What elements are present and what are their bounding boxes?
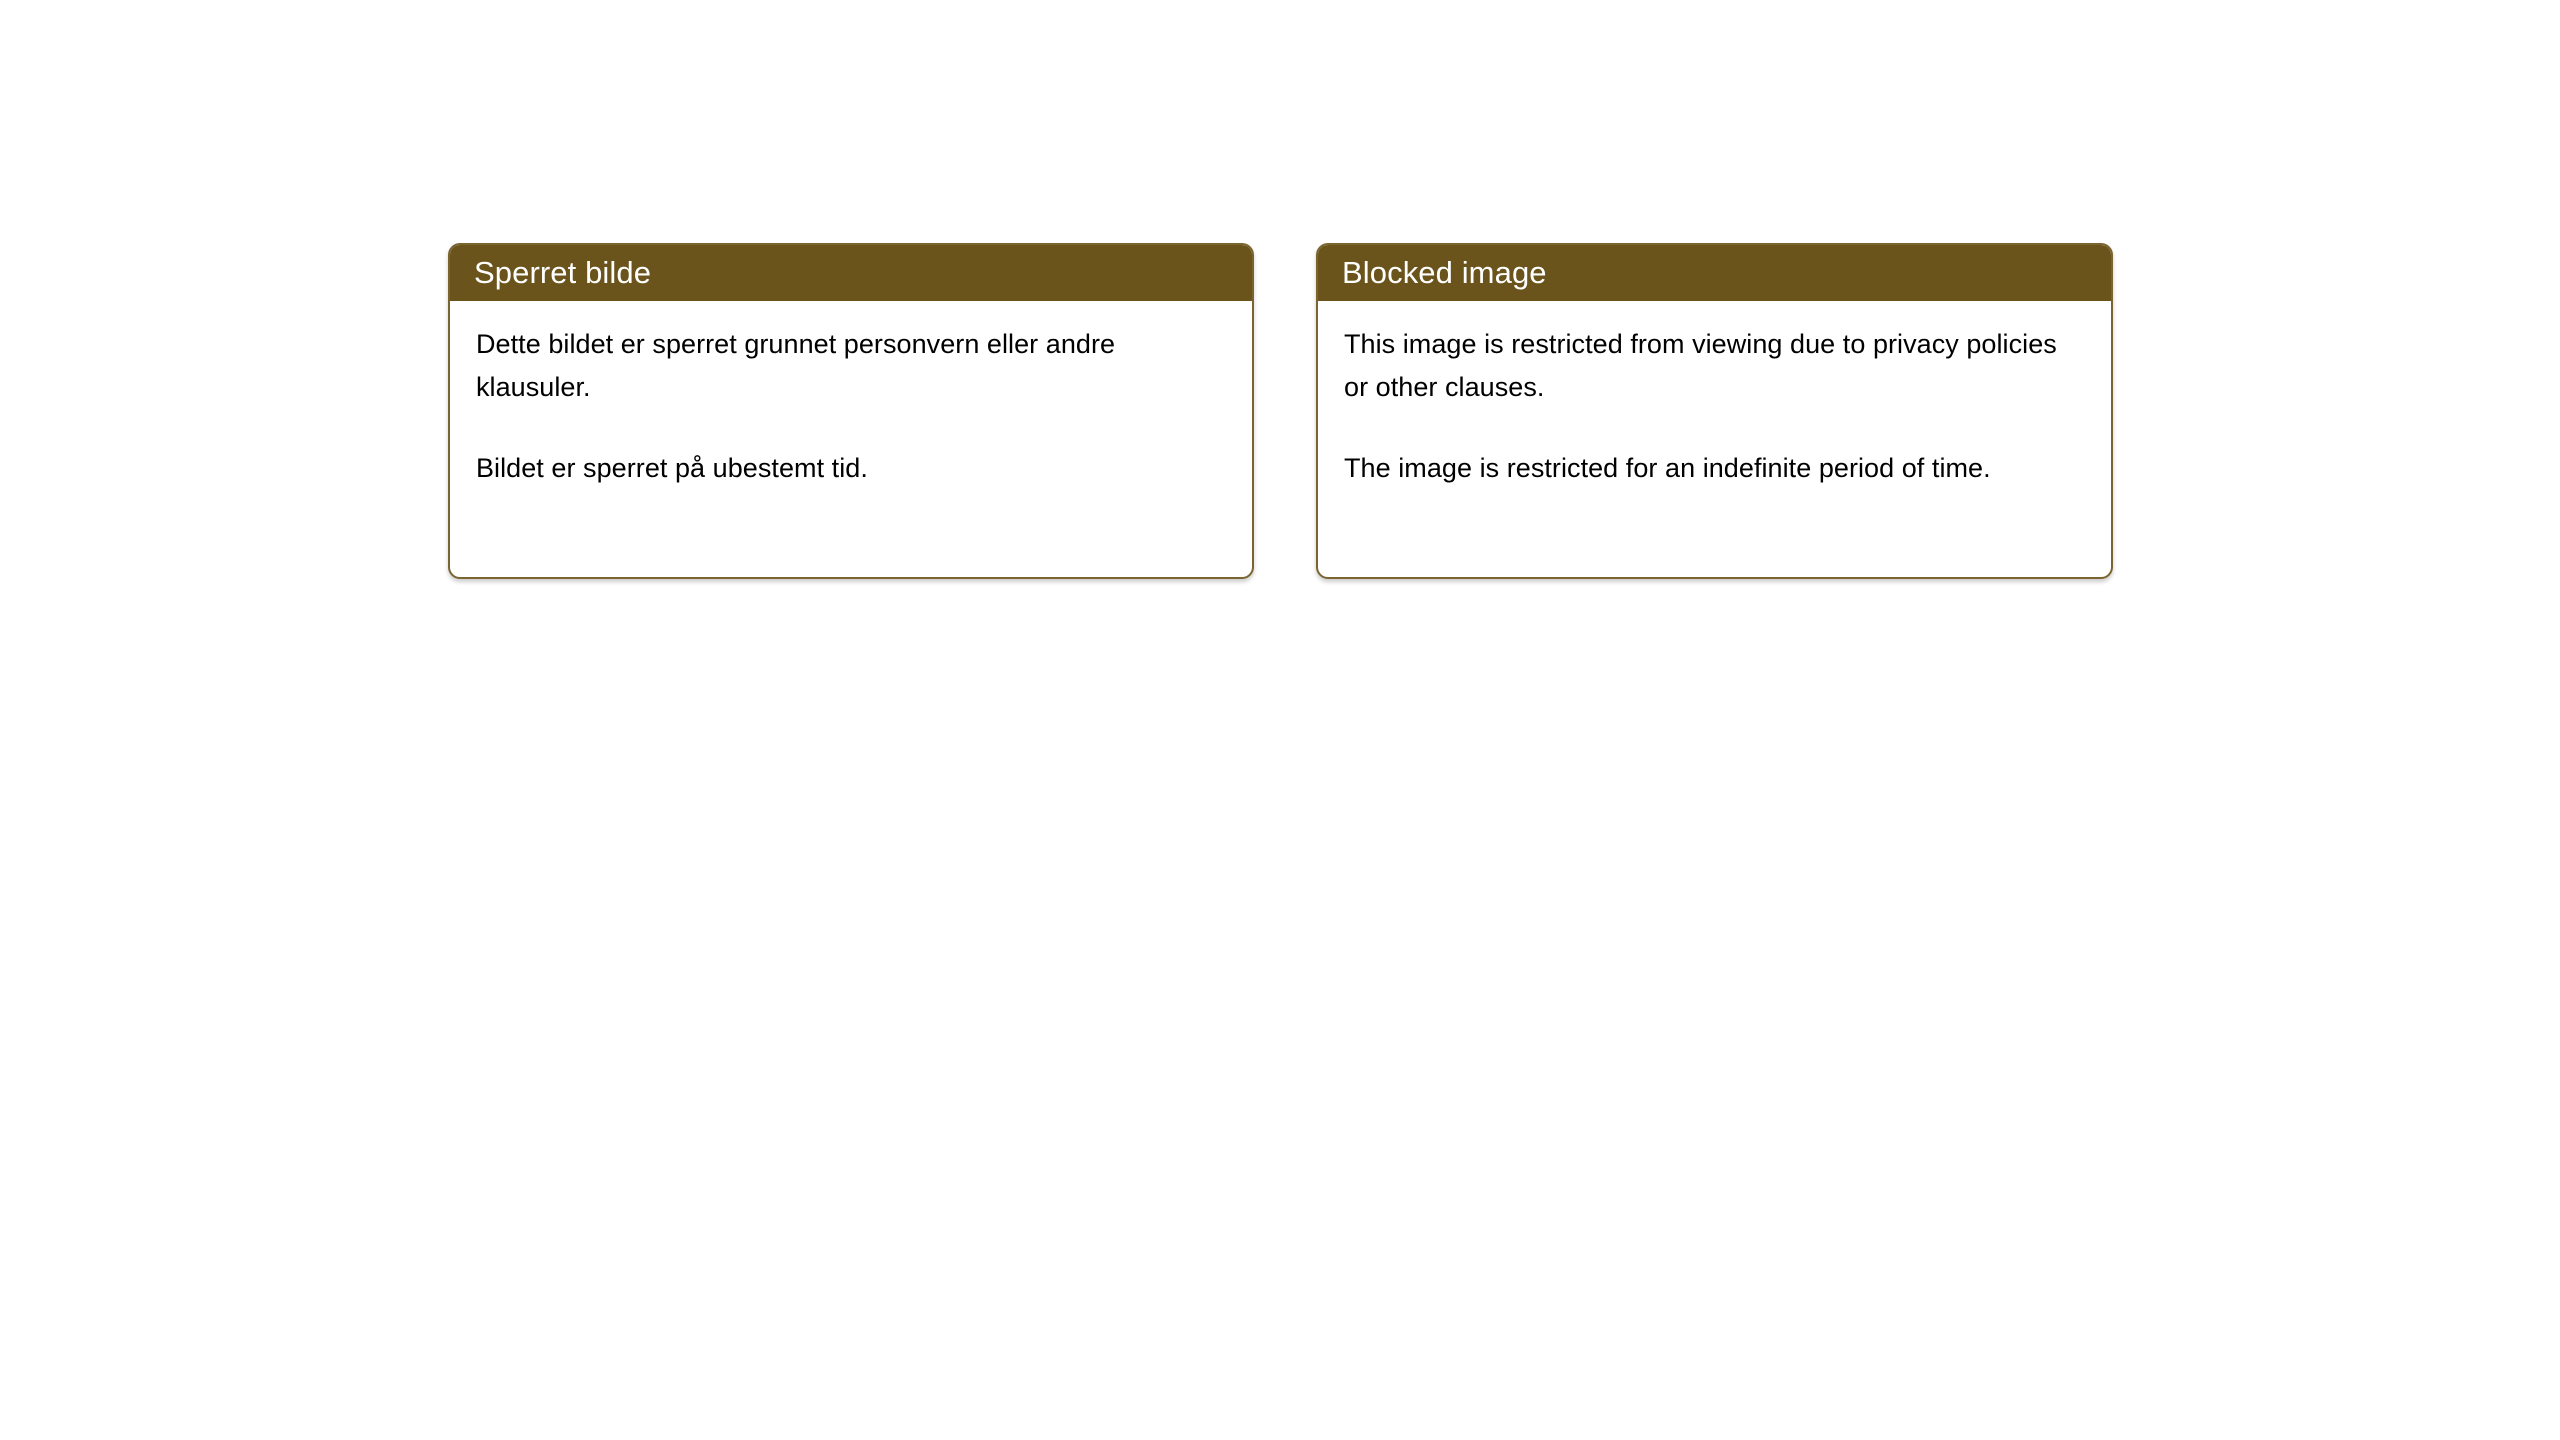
card-paragraph-reason-norwegian: Dette bildet er sperret grunnet personve… [476, 323, 1226, 409]
card-header-norwegian: Sperret bilde [448, 243, 1254, 301]
card-header-english: Blocked image [1316, 243, 2113, 301]
card-body-norwegian: Dette bildet er sperret grunnet personve… [450, 301, 1252, 490]
card-paragraph-duration-english: The image is restricted for an indefinit… [1344, 447, 2085, 490]
blocked-image-notice-card-english: Blocked image This image is restricted f… [1316, 243, 2113, 579]
blocked-image-notice-card-norwegian: Sperret bilde Dette bildet er sperret gr… [448, 243, 1254, 579]
card-paragraph-duration-norwegian: Bildet er sperret på ubestemt tid. [476, 447, 1226, 490]
card-title-norwegian: Sperret bilde [474, 257, 651, 288]
card-title-english: Blocked image [1342, 257, 1547, 288]
card-paragraph-reason-english: This image is restricted from viewing du… [1344, 323, 2085, 409]
page-canvas: Sperret bilde Dette bildet er sperret gr… [0, 0, 2560, 1440]
card-body-english: This image is restricted from viewing du… [1318, 301, 2111, 490]
